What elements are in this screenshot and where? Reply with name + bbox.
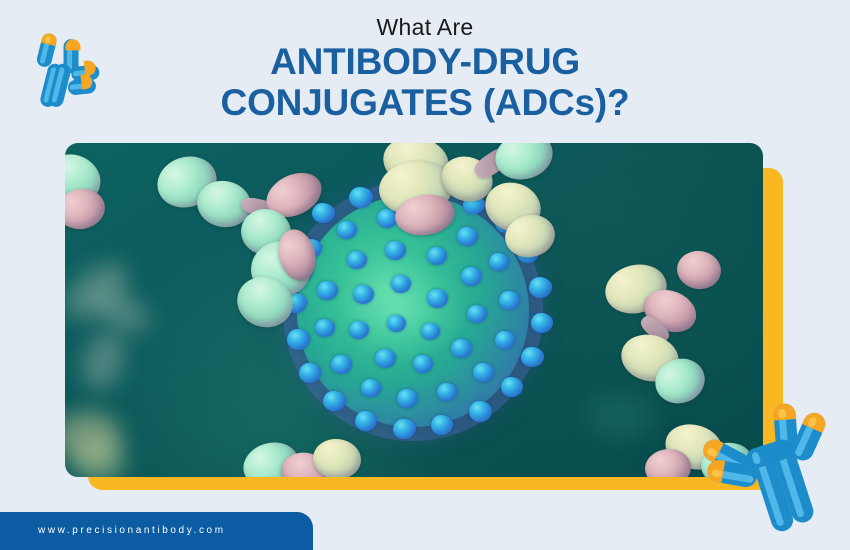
title-headline-line2: CONJUGATES (ADCs)? bbox=[0, 82, 850, 123]
footer-website-url[interactable]: www.precisionantibody.com bbox=[38, 525, 226, 536]
virus-spike bbox=[469, 401, 492, 422]
background-blur-blob bbox=[75, 326, 132, 395]
background-blur-blob bbox=[585, 393, 655, 439]
antibody-molecule-lobe bbox=[65, 185, 108, 233]
title-eyebrow: What Are bbox=[0, 14, 850, 40]
background-blur-blob bbox=[73, 439, 125, 477]
antibody-molecule-lobe bbox=[675, 248, 724, 292]
antibody-icon bbox=[14, 24, 114, 124]
antibody-icon bbox=[694, 398, 850, 548]
hero-image bbox=[65, 143, 763, 477]
infographic-canvas: What Are ANTIBODY-DRUG CONJUGATES (ADCs)… bbox=[0, 0, 850, 550]
title-block: What Are ANTIBODY-DRUG CONJUGATES (ADCs)… bbox=[0, 14, 850, 123]
antibody-molecule-lobe bbox=[490, 143, 558, 186]
virus-spike bbox=[531, 313, 553, 333]
virus-spike bbox=[501, 377, 523, 397]
antibody-molecule-lobe bbox=[311, 437, 363, 477]
hero-illustration bbox=[65, 143, 763, 477]
virus-spike bbox=[521, 347, 544, 367]
footer-bar: www.precisionantibody.com bbox=[0, 512, 313, 550]
title-headline-line1: ANTIBODY-DRUG bbox=[0, 41, 850, 82]
virus-spike bbox=[529, 277, 552, 298]
